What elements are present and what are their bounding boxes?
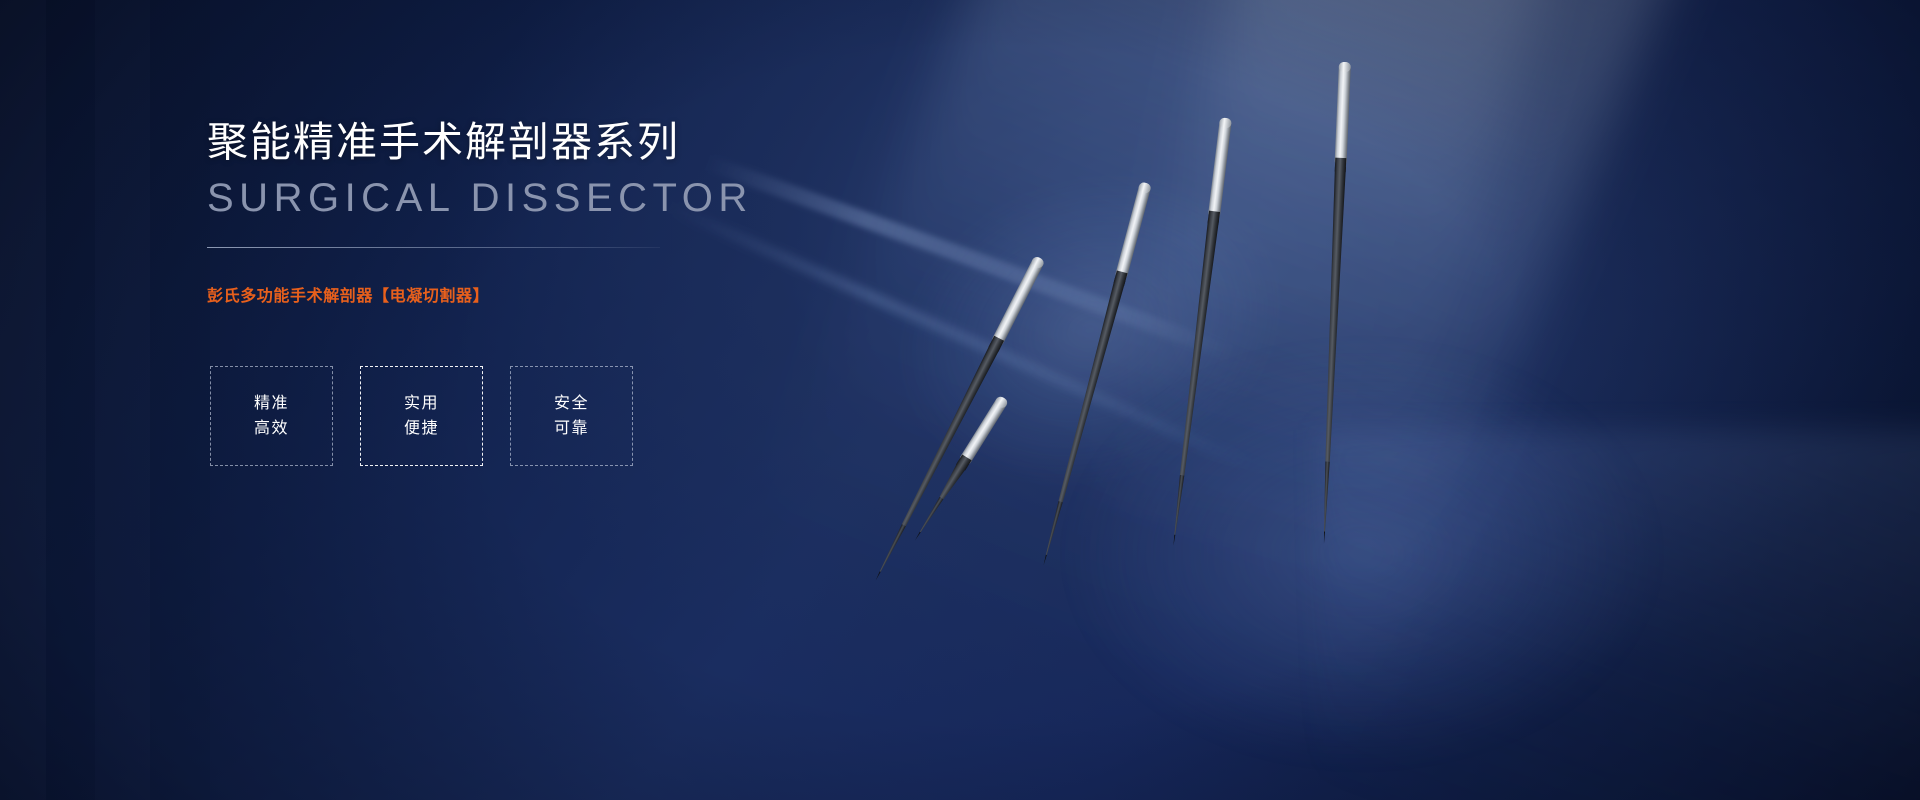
surgical-dissector-banner: 聚能精准手术解剖器系列 SURGICAL DISSECTOR 彭氏多功能手术解剖… xyxy=(0,0,1920,800)
feature-box-3-line2: 可靠 xyxy=(554,421,589,437)
feature-box-2[interactable]: 实用 便捷 xyxy=(360,366,483,466)
headline-block: 聚能精准手术解剖器系列 SURGICAL DISSECTOR 彭氏多功能手术解剖… xyxy=(207,118,847,306)
feature-box-2-line2: 便捷 xyxy=(404,421,439,437)
feature-box-1-line2: 高效 xyxy=(254,421,289,437)
feature-box-3-line1: 安全 xyxy=(554,396,589,412)
feature-box-1[interactable]: 精准 高效 xyxy=(210,366,333,466)
product-tagline: 彭氏多功能手术解剖器【电凝切割器】 xyxy=(207,282,847,306)
feature-box-1-line1: 精准 xyxy=(254,396,289,412)
headline-divider xyxy=(207,247,660,248)
page-title-chinese: 聚能精准手术解剖器系列 xyxy=(207,118,847,166)
page-subtitle-english: SURGICAL DISSECTOR xyxy=(207,176,847,221)
feature-box-3[interactable]: 安全 可靠 xyxy=(510,366,633,466)
feature-box-2-line1: 实用 xyxy=(404,396,439,412)
feature-box-group: 精准 高效 实用 便捷 安全 可靠 xyxy=(210,366,633,466)
